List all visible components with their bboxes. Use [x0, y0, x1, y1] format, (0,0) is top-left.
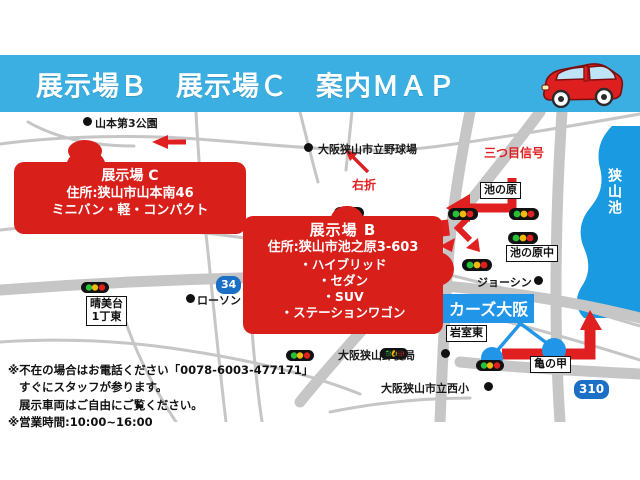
poi-marker-lawson	[186, 294, 195, 303]
showroom-c-callout[interactable]: 展示場 C 住所:狭山市山本南46 ミニバン・軽・コンパクト	[14, 162, 246, 234]
poi-marker-joshin	[534, 276, 543, 285]
intersection-harumidai-line2: 1丁東	[90, 311, 123, 324]
showroom-c-vehicles: ミニバン・軽・コンパクト	[14, 203, 246, 220]
poi-marker-nishi-elementary	[484, 382, 493, 391]
showroom-c-address: 住所:狭山市山本南46	[14, 186, 246, 203]
annotation-third-signal: 三つ目信号	[484, 144, 544, 161]
showroom-b-address: 住所:狭山市池之原3-603	[243, 240, 443, 257]
footer-line-1: ※不在の場合はお電話ください「0078-6003-477171」	[8, 362, 308, 379]
showroom-b-vehicle-1: ・セダン	[243, 273, 443, 289]
route-shield-310: 310	[574, 380, 609, 399]
showroom-b-callout[interactable]: 展示場 B 住所:狭山市池之原3-603 ・ハイブリッド ・セダン ・SUV ・…	[243, 216, 443, 334]
intersection-harumidai: 晴美台 1丁東	[86, 296, 127, 326]
footer-line-4: ※営業時間:10:00~16:00	[8, 414, 308, 431]
footer-line-3: 展示車両はご自由にご覧ください。	[8, 397, 308, 414]
annotation-right-turn: 右折	[352, 176, 376, 193]
footer-notes: ※不在の場合はお電話ください「0078-6003-477171」 すぐにスタッフ…	[8, 362, 308, 432]
poi-label-baseball-stadium: 大阪狭山市立野球場	[318, 141, 417, 157]
intersection-ikenohara-naka: 池の原中	[506, 245, 558, 262]
poi-label-yamamoto-park: 山本第3公園	[95, 115, 158, 131]
footer-line-2: すぐにスタッフが参ります。	[8, 379, 308, 396]
poi-label-nishi-elementary: 大阪狭山市立西小	[381, 380, 469, 396]
dealer-label[interactable]: カーズ大阪	[443, 294, 534, 323]
poi-marker-baseball-stadium	[304, 143, 313, 152]
intersection-iwamuro-higashi: 岩室東	[446, 325, 487, 342]
header-banner: 展示場Ｂ 展示場Ｃ 案内ＭＡＰ	[0, 55, 640, 112]
route-shield-34: 34	[216, 276, 241, 294]
poi-label-post-office: 大阪狭山郵便局	[338, 347, 415, 363]
intersection-kamenoko: 亀の甲	[530, 356, 571, 373]
lake-shape	[577, 126, 640, 318]
showroom-b-title: 展示場 B	[243, 221, 443, 240]
poi-label-joshin: ジョーシン	[477, 274, 532, 290]
red-car-icon	[534, 60, 626, 108]
showroom-b-vehicle-0: ・ハイブリッド	[243, 257, 443, 273]
lake-label: 狭山池	[604, 168, 624, 216]
map-flyer: 展示場Ｂ 展示場Ｃ 案内ＭＡＰ	[0, 0, 640, 480]
poi-label-lawson: ローソン	[197, 292, 241, 308]
poi-marker-post-office	[441, 349, 450, 358]
intersection-ikenohara: 池の原	[480, 182, 521, 199]
showroom-b-vehicle-3: ・ステーションワゴン	[243, 305, 443, 321]
poi-marker-yamamoto-park	[83, 117, 92, 126]
showroom-c-title: 展示場 C	[14, 168, 246, 186]
showroom-b-vehicle-2: ・SUV	[243, 289, 443, 305]
page-title: 展示場Ｂ 展示場Ｃ 案内ＭＡＰ	[36, 64, 456, 103]
